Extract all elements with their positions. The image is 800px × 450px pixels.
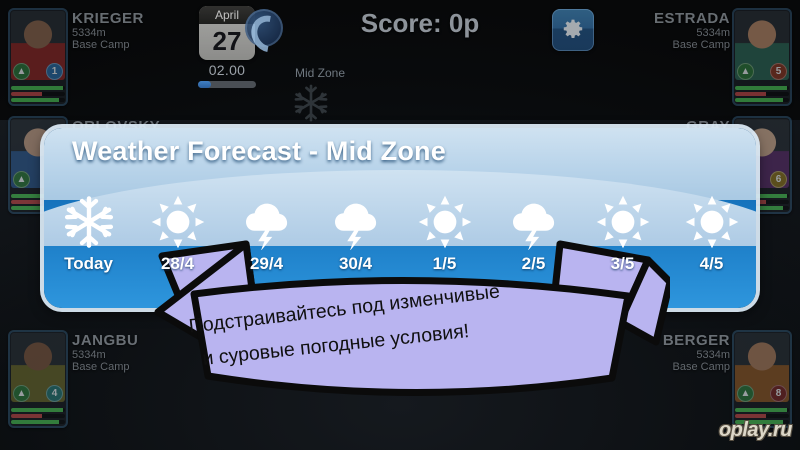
settings-button[interactable] xyxy=(552,9,594,51)
forecast-day[interactable]: 29/4 xyxy=(222,190,311,308)
forecast-day-label: 3/5 xyxy=(611,254,635,274)
game-time: 02.00 xyxy=(196,62,258,78)
forecast-day[interactable]: 2/5 xyxy=(489,190,578,308)
snowflake-icon xyxy=(61,194,117,250)
sun-icon xyxy=(417,194,473,250)
forecast-day-label: 28/4 xyxy=(161,254,194,274)
climber-role-badge: ▲ xyxy=(13,171,30,188)
forecast-day[interactable]: 3/5 xyxy=(578,190,667,308)
forecast-day[interactable]: 30/4 xyxy=(311,190,400,308)
climber-name: ESTRADA xyxy=(620,10,730,27)
climber-location: Base Camp xyxy=(620,39,730,51)
score-label: Score: 0p xyxy=(330,8,510,39)
sun-icon xyxy=(595,194,651,250)
climber-card[interactable]: ▲4 xyxy=(8,330,68,428)
climber-location: Base Camp xyxy=(72,39,182,51)
climber-role-badge: ▲ xyxy=(737,385,754,402)
game-screen: April 27 02.00 Score: 0p Mid Zone ▲1KRIE… xyxy=(0,0,800,450)
forecast-day-label: 1/5 xyxy=(433,254,457,274)
climber-card[interactable]: ▲5 xyxy=(732,8,792,106)
climber-info: KRIEGER5334mBase Camp xyxy=(72,10,182,51)
zone-label: Mid Zone xyxy=(255,66,385,80)
forecast-day-label: 2/5 xyxy=(522,254,546,274)
climber-role-badge: ▲ xyxy=(13,63,30,80)
forecast-row: Today28/429/430/41/52/53/54/5 xyxy=(44,190,756,308)
snowflake-icon xyxy=(290,82,332,124)
gear-icon xyxy=(561,18,585,42)
climber-card[interactable]: ▲8 xyxy=(732,330,792,428)
forecast-day-label: 29/4 xyxy=(250,254,283,274)
climber-role-badge: ▲ xyxy=(737,63,754,80)
climber-stat-bars xyxy=(11,84,65,102)
day-progress-bar xyxy=(198,81,256,88)
site-watermark: oplay.ru xyxy=(719,419,792,442)
climber-info: ESTRADA5334mBase Camp xyxy=(620,10,730,51)
thunderstorm-icon xyxy=(328,194,384,250)
forecast-day[interactable]: 4/5 xyxy=(667,190,756,308)
climber-name: KRIEGER xyxy=(72,10,182,27)
forecast-day[interactable]: Today xyxy=(44,190,133,308)
climber-card[interactable]: ▲1 xyxy=(8,8,68,106)
forecast-day-label: 4/5 xyxy=(700,254,724,274)
thunderstorm-icon xyxy=(506,194,562,250)
climber-number-badge: 1 xyxy=(46,63,63,80)
forecast-day-label: Today xyxy=(64,254,113,274)
climber-number-badge: 8 xyxy=(770,385,787,402)
moon-icon xyxy=(245,9,283,47)
climber-stat-bars xyxy=(11,406,65,424)
climber-role-badge: ▲ xyxy=(13,385,30,402)
dialog-title: Weather Forecast - Mid Zone xyxy=(72,136,446,167)
climber-altitude: 5334m xyxy=(620,27,730,39)
climber-number-badge: 4 xyxy=(46,385,63,402)
forecast-day[interactable]: 1/5 xyxy=(400,190,489,308)
climber-altitude: 5334m xyxy=(72,27,182,39)
forecast-day[interactable]: 28/4 xyxy=(133,190,222,308)
thunderstorm-icon xyxy=(239,194,295,250)
forecast-day-label: 30/4 xyxy=(339,254,372,274)
sun-icon xyxy=(150,194,206,250)
weather-forecast-dialog[interactable]: Weather Forecast - Mid Zone Today28/429/… xyxy=(44,128,756,308)
sun-icon xyxy=(684,194,740,250)
climber-stat-bars xyxy=(735,84,789,102)
climber-number-badge: 5 xyxy=(770,63,787,80)
climber-number-badge: 6 xyxy=(770,171,787,188)
